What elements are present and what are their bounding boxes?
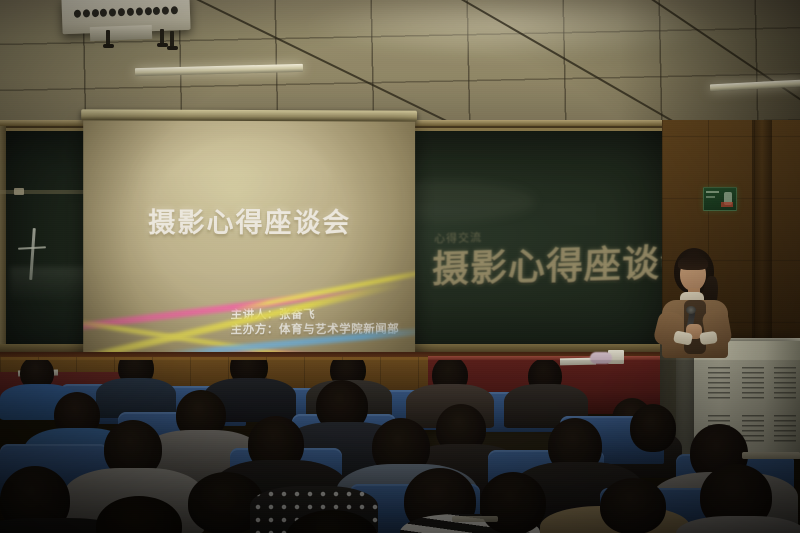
lecture-hall-photo: 心得交流 摄影心得座谈会 摄影心得座谈会 主讲人：张奋飞 主办方：体育与艺术学院… [0, 0, 800, 533]
projector-mount-leg [170, 31, 174, 47]
exit-sign-accent [721, 202, 733, 207]
ceiling-shadow-right [620, 0, 800, 132]
exit-sign-text-line [706, 196, 715, 198]
audience-head [630, 404, 676, 452]
projector-hole-row [74, 5, 178, 18]
projector-mount-foot [103, 44, 114, 48]
microphone-head [686, 306, 696, 314]
screen-vignette [83, 120, 415, 369]
writing-tray [452, 516, 498, 522]
chalk-stick [14, 188, 24, 195]
presenter-hair-fringe [678, 256, 708, 270]
exit-sign-text-line [706, 191, 719, 193]
projector-mount-foot [167, 46, 178, 50]
writing-tray [742, 452, 800, 459]
blackboard-chalk-title: 摄影心得座谈会 [431, 240, 654, 294]
blackboard-frame-left [0, 126, 6, 358]
projector-lower-body [90, 25, 152, 41]
presenter-cuff-right [699, 331, 718, 345]
emergency-exit-sign [703, 187, 737, 211]
presenter [652, 248, 738, 358]
audience-head [600, 478, 666, 533]
projected-slide: 摄影心得座谈会 主讲人：张奋飞 主办方：体育与艺术学院新闻部 [83, 120, 415, 369]
projection-screen: 摄影心得座谈会 主讲人：张奋飞 主办方：体育与艺术学院新闻部 [83, 117, 415, 370]
audience-area [0, 360, 800, 533]
audience-head [480, 472, 546, 533]
